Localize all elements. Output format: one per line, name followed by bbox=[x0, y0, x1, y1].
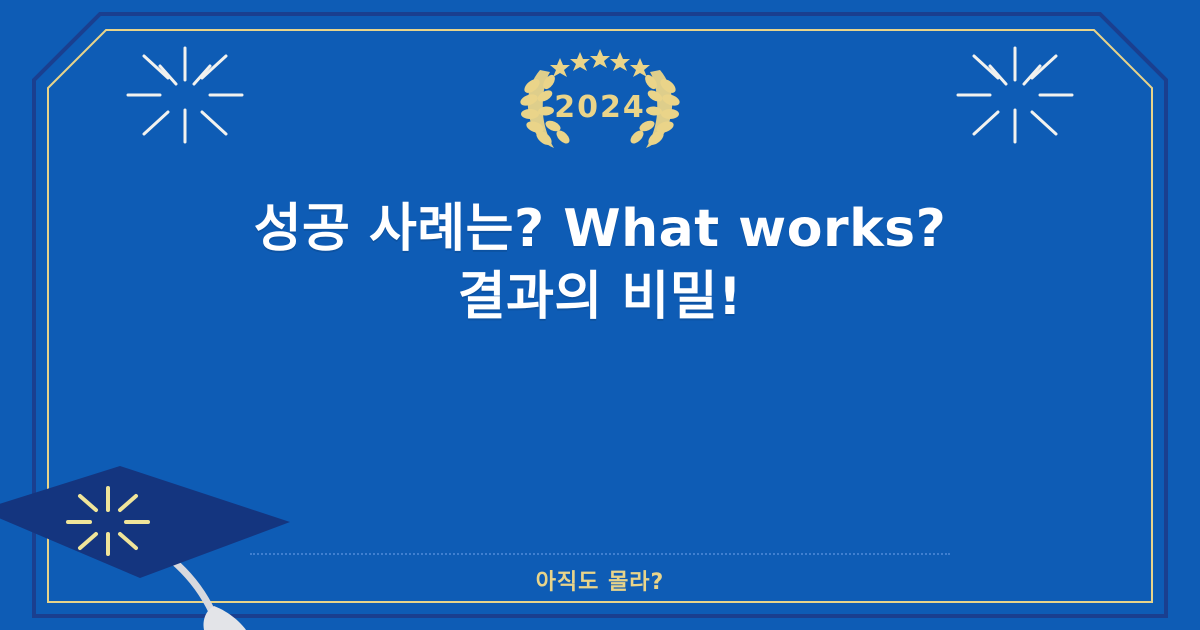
sparkle-icon-left bbox=[120, 40, 250, 154]
title-block: 성공 사례는? What works? 결과의 비밀! bbox=[0, 196, 1200, 331]
caption-text: 아직도 몰라? bbox=[536, 564, 665, 596]
sparkle-icon-right bbox=[950, 40, 1080, 154]
page-title: 성공 사례는? What works? 결과의 비밀! bbox=[200, 196, 1000, 331]
caption-block: 아직도 몰라? bbox=[0, 564, 1200, 596]
graduation-cap-icon bbox=[0, 430, 320, 630]
bottom-divider bbox=[250, 553, 950, 555]
year-badge: 2024 bbox=[450, 90, 750, 125]
five-stars-icon bbox=[550, 49, 650, 77]
poster-canvas: 2024 성공 사례는? What works? 결과의 비밀! 아직도 몰라? bbox=[0, 0, 1200, 630]
award-emblem: 2024 bbox=[450, 34, 750, 154]
